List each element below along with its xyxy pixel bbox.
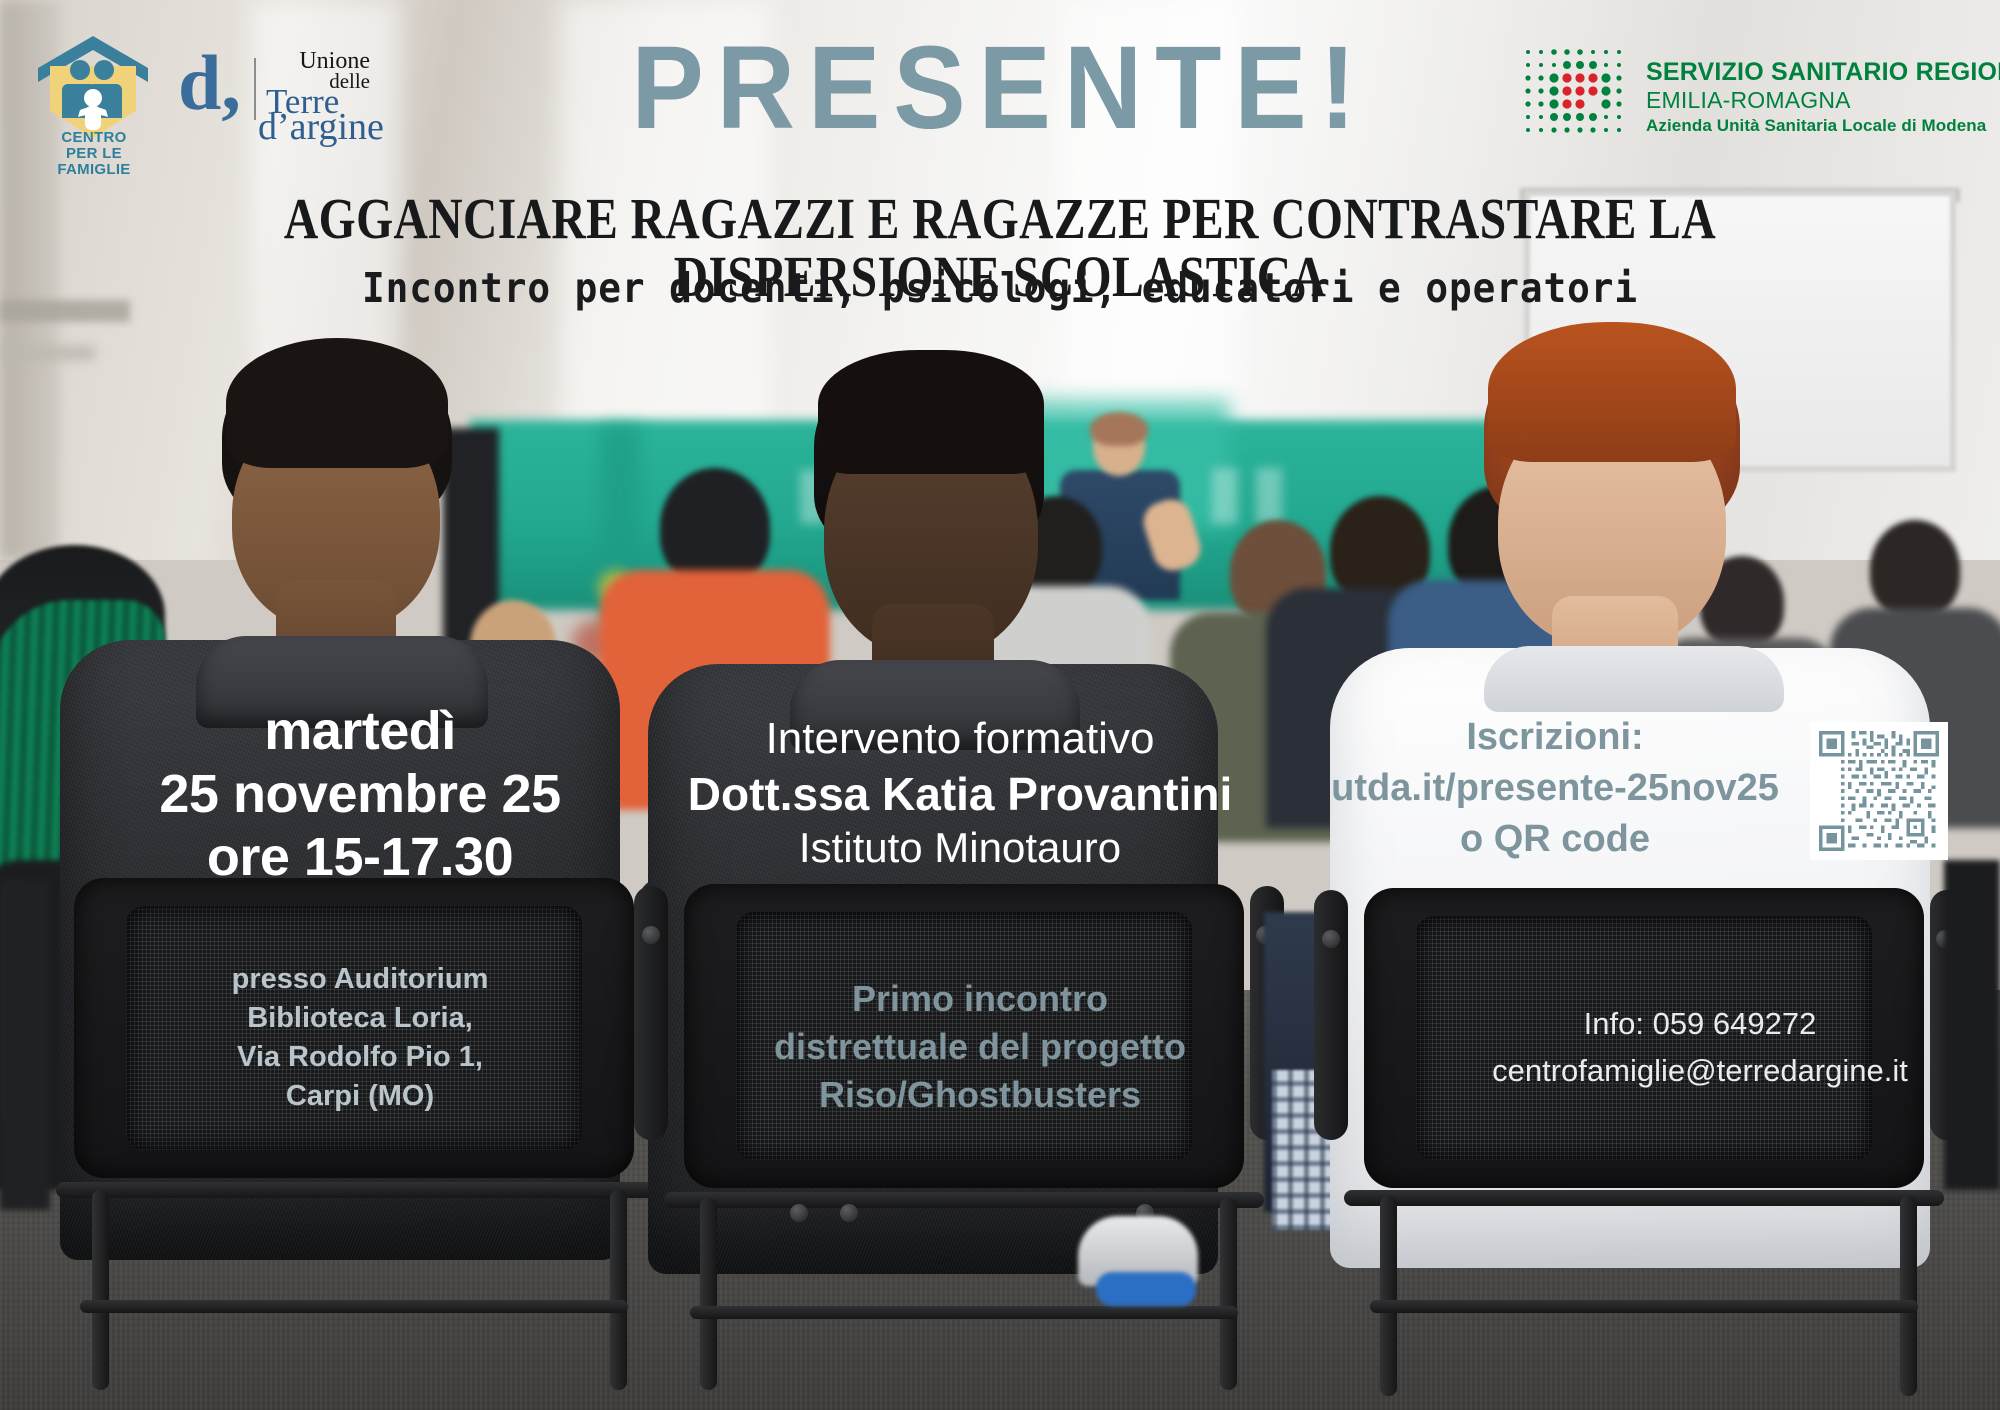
contact-phone: Info: 059 649272 [1400,1000,2000,1047]
venue-line-2: Biblioteca Loria, [150,999,570,1038]
venue-line-1: presso Auditorium [150,960,570,999]
contact-block: Info: 059 649272 centrofamiglie@terredar… [1400,1000,2000,1094]
poster-headline: PRESENTE! [80,32,1920,144]
project-line-1: Primo incontro [720,975,1240,1023]
logo-cpf-line2: PER LE FAMIGLIE [32,146,156,178]
event-venue-block: presso Auditorium Biblioteca Loria, Via … [150,960,570,1116]
project-line-3: Riso/Ghostbusters [720,1071,1240,1119]
overlay-layer: CENTRO PER LE FAMIGLIE d, Unione delle T… [0,0,2000,1410]
speaker-name: Dott.ssa Katia Provantini [680,766,1240,822]
event-date: 25 novembre 25 [120,763,600,826]
registration-block: Iscrizioni: utda.it/presente-25nov25 o Q… [1300,712,1810,865]
venue-line-3: Via Rodolfo Pio 1, [150,1038,570,1077]
session-type-label: Intervento formativo [680,712,1240,766]
event-time: ore 15-17.30 [120,826,600,889]
contact-email[interactable]: centrofamiglie@terredargine.it [1400,1047,2000,1094]
event-date-block: martedì 25 novembre 25 ore 15-17.30 [120,700,600,889]
venue-line-4: Carpi (MO) [150,1077,570,1116]
poster-subtitle-secondary: Incontro per docenti, psicologi, educato… [80,268,1920,309]
project-line-2: distrettuale del progetto [720,1023,1240,1071]
qr-code[interactable] [1810,722,1948,860]
event-weekday: martedì [120,700,600,763]
registration-qr-hint: o QR code [1300,814,1810,865]
poster-root: CENTRO PER LE FAMIGLIE d, Unione delle T… [0,0,2000,1410]
registration-label: Iscrizioni: [1300,712,1810,763]
qr-code-icon [1819,731,1939,851]
project-block: Primo incontro distrettuale del progetto… [720,975,1240,1119]
speaker-institute: Istituto Minotauro [680,822,1240,874]
registration-url[interactable]: utda.it/presente-25nov25 [1300,763,1810,814]
